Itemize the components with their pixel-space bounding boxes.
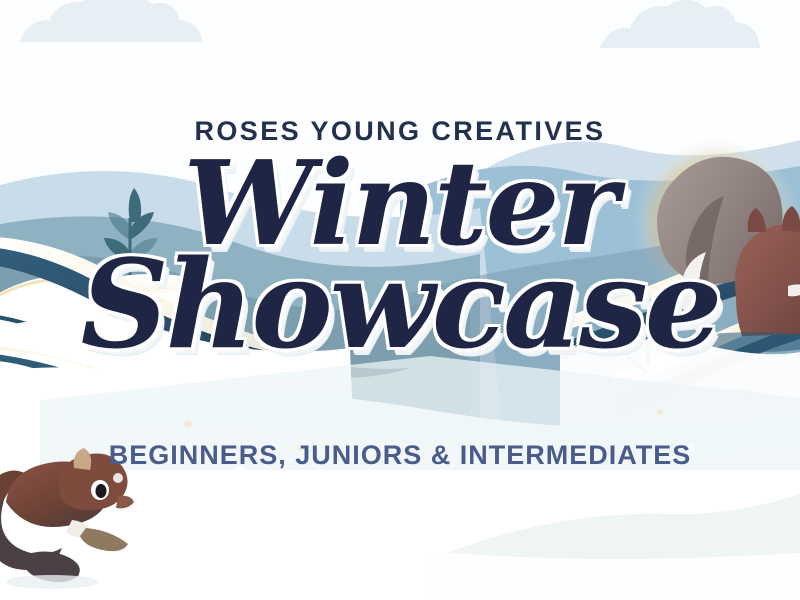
winter-scene-illustration: [0, 0, 800, 600]
winter-showcase-poster: ROSES YOUNG CREATIVES Winter Showcase BE…: [0, 0, 800, 600]
